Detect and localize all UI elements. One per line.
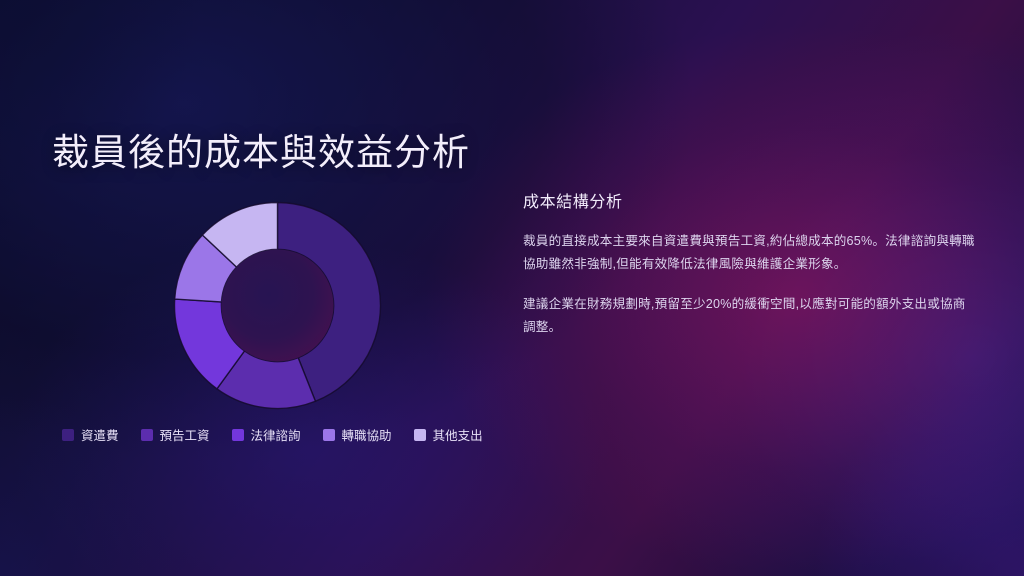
donut-chart-svg: [160, 188, 395, 423]
legend-item-3[interactable]: 轉職協助: [323, 425, 392, 444]
legend-swatch-4: [414, 429, 426, 441]
legend-label-2: 法律諮詢: [251, 425, 301, 444]
legend-item-0[interactable]: 資遣費: [62, 425, 119, 444]
legend-item-2[interactable]: 法律諮詢: [232, 425, 301, 444]
legend-swatch-0: [62, 429, 74, 441]
chart-legend: 資遣費 預告工資 法律諮詢 轉職協助 其他支出: [62, 425, 483, 444]
donut-hole: [222, 250, 334, 362]
legend-swatch-2: [232, 429, 244, 441]
legend-swatch-3: [323, 429, 335, 441]
page-title: 裁員後的成本與效益分析: [52, 129, 470, 176]
legend-item-1[interactable]: 預告工資: [141, 425, 210, 444]
slide-canvas: 裁員後的成本與效益分析 資遣費 預告工資 法律諮詢: [0, 0, 1024, 576]
legend-label-3: 轉職協助: [342, 425, 392, 444]
panel-paragraph-1: 建議企業在財務規劃時,預留至少20%的緩衝空間,以應對可能的額外支出或協商調整。: [523, 293, 975, 340]
legend-label-0: 資遣費: [81, 425, 119, 444]
legend-label-4: 其他支出: [433, 425, 483, 444]
legend-item-4[interactable]: 其他支出: [414, 425, 483, 444]
analysis-panel: 成本結構分析 裁員的直接成本主要來自資遣費與預告工資,約佔總成本的65%。法律諮…: [523, 188, 975, 339]
panel-heading: 成本結構分析: [523, 188, 975, 212]
legend-label-1: 預告工資: [160, 425, 210, 444]
panel-paragraph-0: 裁員的直接成本主要來自資遣費與預告工資,約佔總成本的65%。法律諮詢與轉職協助雖…: [523, 230, 975, 277]
legend-swatch-1: [141, 429, 153, 441]
donut-chart: [160, 188, 395, 423]
